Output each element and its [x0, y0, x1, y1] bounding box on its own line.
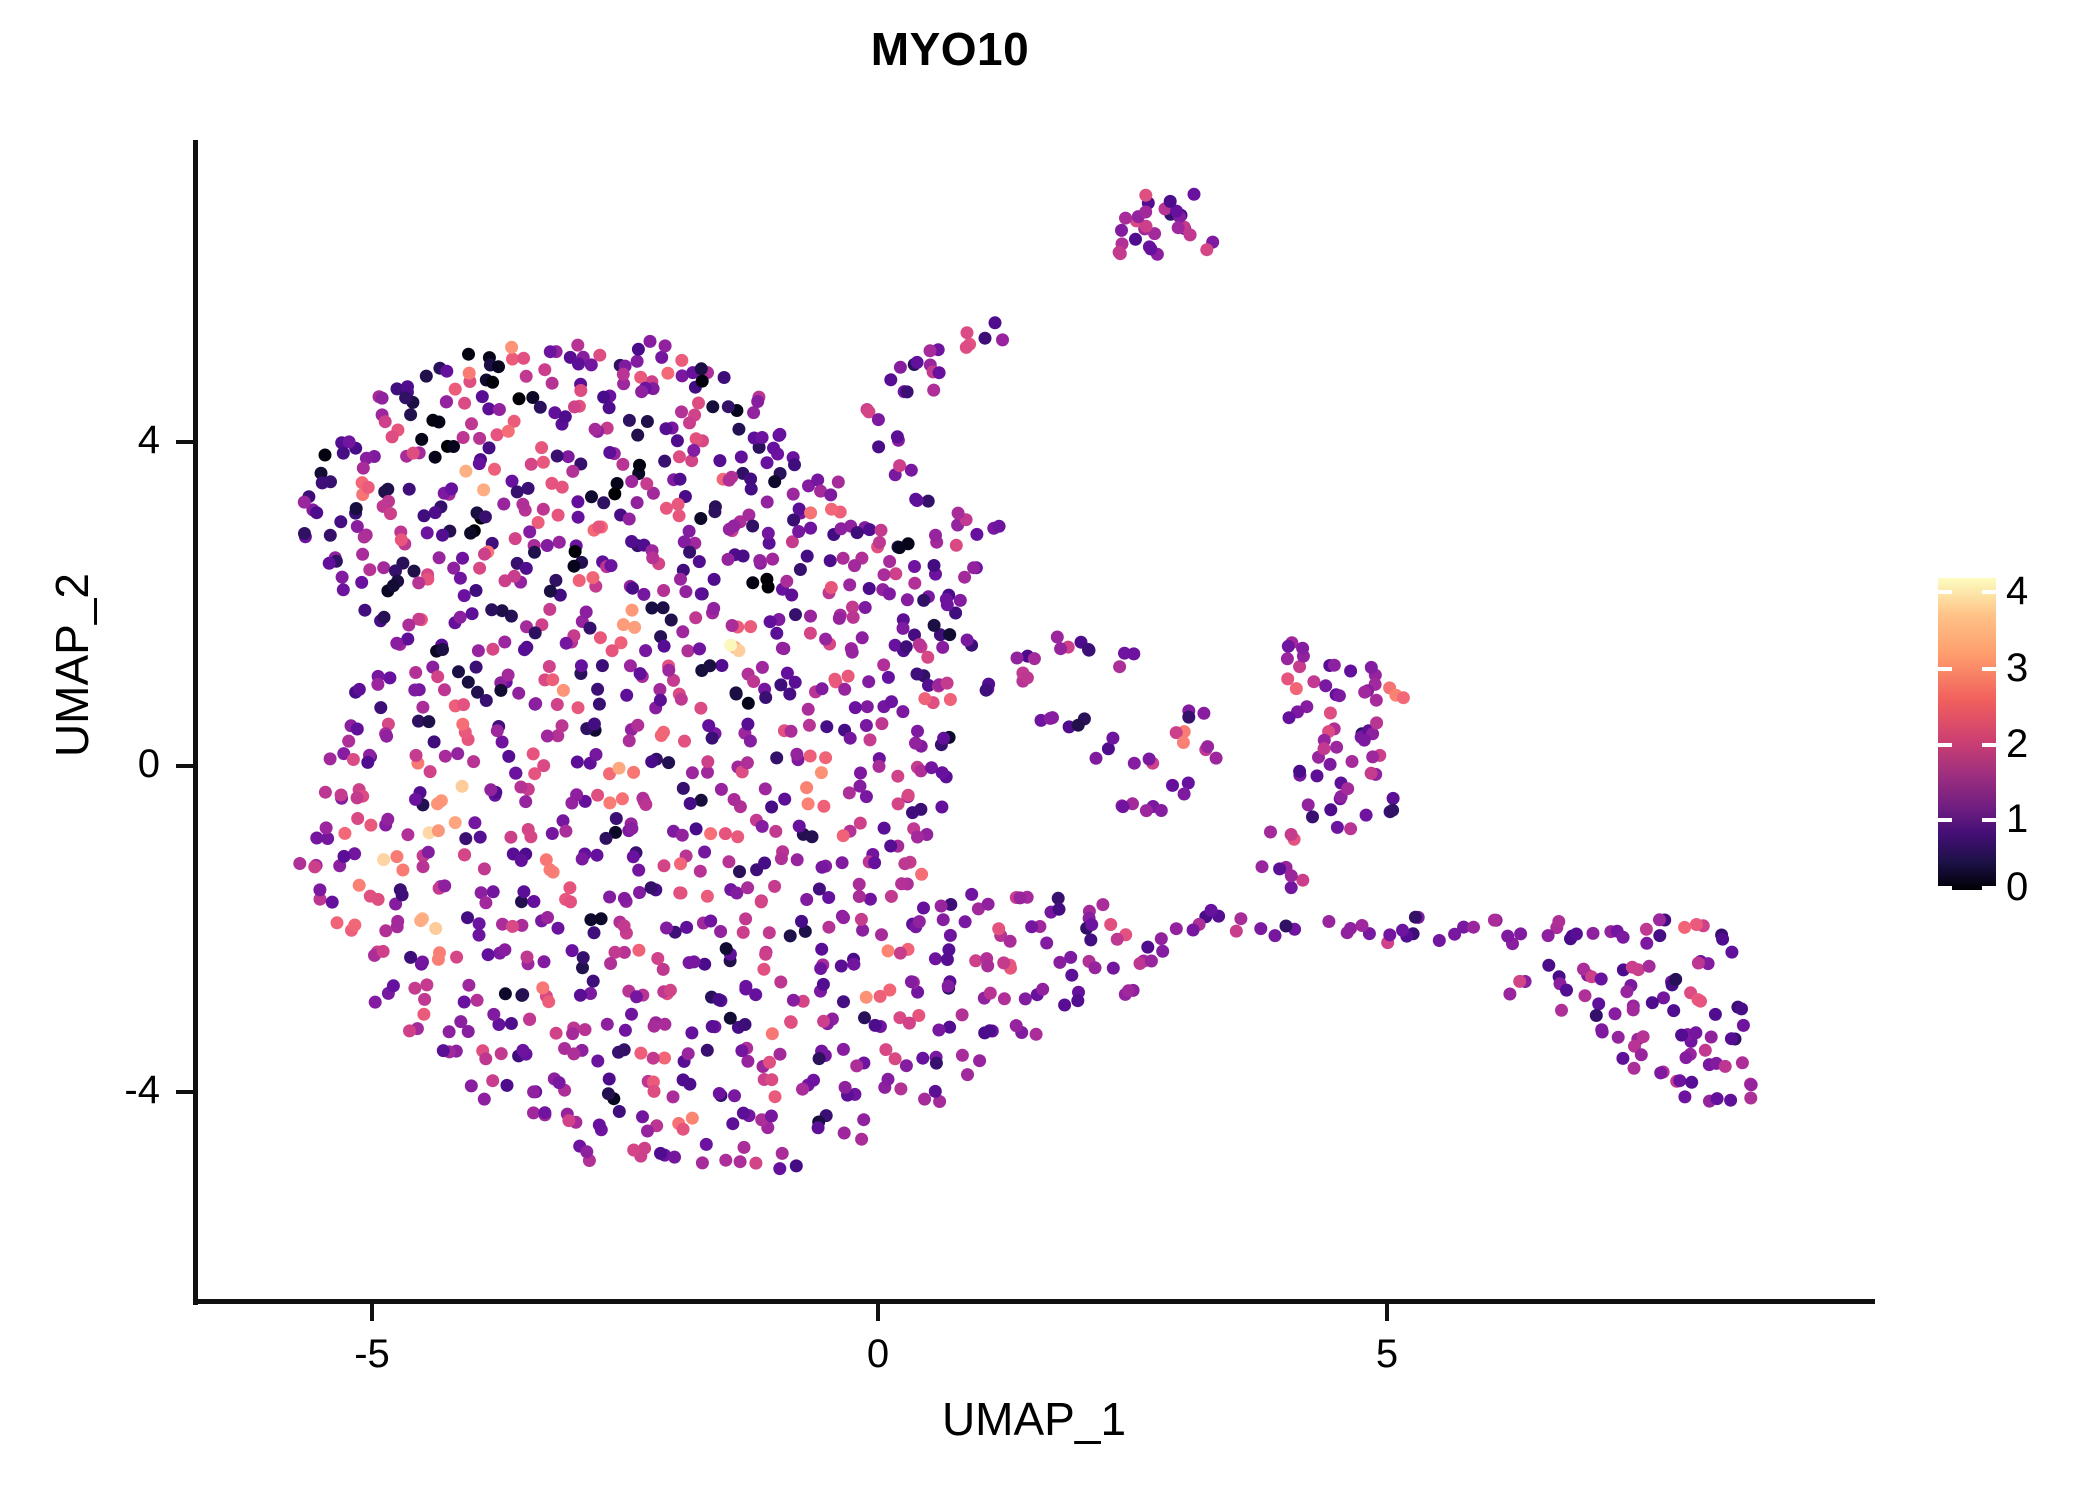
y-tick-mark-0 — [176, 764, 193, 768]
colorbar-tick-1-left — [1938, 818, 1952, 822]
y-axis-line — [193, 140, 198, 1305]
colorbar-gradient — [1938, 578, 1996, 890]
plot-panel — [195, 140, 1873, 1302]
page-title: MYO10 — [0, 22, 1900, 76]
x-tick-mark-minus5 — [370, 1304, 374, 1321]
x-tick-label-5: 5 — [1317, 1334, 1457, 1374]
colorbar-tick-4-right — [1982, 590, 1996, 594]
x-tick-mark-5 — [1385, 1304, 1389, 1321]
y-tick-mark-minus4 — [176, 1090, 193, 1094]
y-tick-label-4: 4 — [100, 420, 160, 460]
x-tick-label-minus5: -5 — [302, 1334, 442, 1374]
colorbar-label-2: 2 — [2006, 724, 2028, 764]
x-axis-line — [193, 1299, 1875, 1304]
colorbar-tick-4-left — [1938, 590, 1952, 594]
x-tick-mark-0 — [876, 1304, 880, 1321]
colorbar-legend: 4 3 2 1 0 — [1938, 578, 1996, 890]
colorbar-label-0: 0 — [2006, 867, 2028, 907]
colorbar-label-1: 1 — [2006, 799, 2028, 839]
y-tick-mark-4 — [176, 440, 193, 444]
colorbar-tick-1-right — [1982, 818, 1996, 822]
y-tick-label-0: 0 — [100, 744, 160, 784]
colorbar-tick-2-right — [1982, 743, 1996, 747]
figure-root: MYO10 4 0 -4 -5 0 5 UMAP_2 UMAP_1 4 3 2 … — [0, 0, 2100, 1500]
y-tick-label-minus4: -4 — [78, 1070, 160, 1110]
x-axis-label: UMAP_1 — [193, 1392, 1875, 1446]
x-tick-label-0: 0 — [808, 1334, 948, 1374]
colorbar-tick-3-right — [1982, 667, 1996, 671]
colorbar-tick-0-right — [1982, 886, 1996, 890]
y-axis-label: UMAP_2 — [45, 405, 99, 925]
colorbar-tick-0-left — [1938, 886, 1952, 890]
colorbar-label-4: 4 — [2006, 571, 2028, 611]
colorbar-label-3: 3 — [2006, 648, 2028, 688]
colorbar-tick-2-left — [1938, 743, 1952, 747]
colorbar-tick-3-left — [1938, 667, 1952, 671]
